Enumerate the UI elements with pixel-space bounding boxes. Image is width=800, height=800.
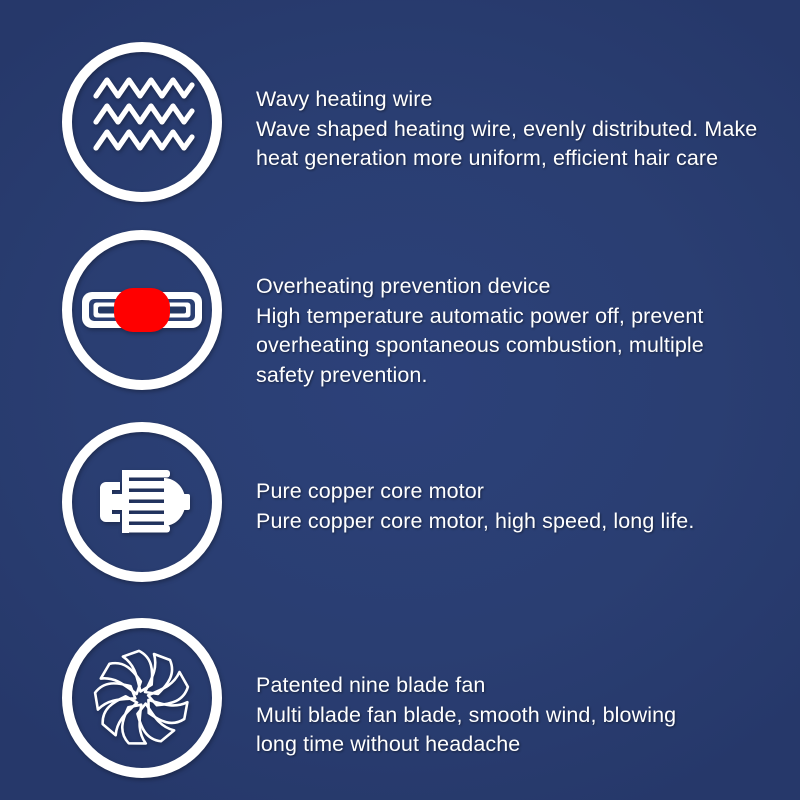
feature-text-block: Overheating prevention device High tempe… bbox=[256, 272, 776, 390]
nine-blade-fan-icon bbox=[60, 616, 224, 780]
thermal-fuse-icon bbox=[60, 228, 224, 392]
feature-description: Wave shaped heating wire, evenly distrib… bbox=[256, 115, 776, 174]
feature-description: High temperature automatic power off, pr… bbox=[256, 302, 776, 391]
feature-title: Wavy heating wire bbox=[256, 85, 776, 115]
feature-title: Patented nine blade fan bbox=[256, 671, 776, 701]
feature-title: Pure copper core motor bbox=[256, 477, 776, 507]
feature-text-block: Patented nine blade fan Multi blade fan … bbox=[256, 671, 776, 760]
feature-title: Overheating prevention device bbox=[256, 272, 776, 302]
copper-motor-icon bbox=[60, 420, 224, 584]
feature-description: Multi blade fan blade, smooth wind, blow… bbox=[256, 701, 776, 760]
wavy-heating-wire-icon bbox=[60, 40, 224, 204]
feature-poster: Wavy heating wire Wave shaped heating wi… bbox=[0, 0, 800, 800]
feature-text-block: Pure copper core motor Pure copper core … bbox=[256, 477, 776, 536]
feature-description: Pure copper core motor, high speed, long… bbox=[256, 507, 776, 537]
feature-text-block: Wavy heating wire Wave shaped heating wi… bbox=[256, 85, 776, 174]
